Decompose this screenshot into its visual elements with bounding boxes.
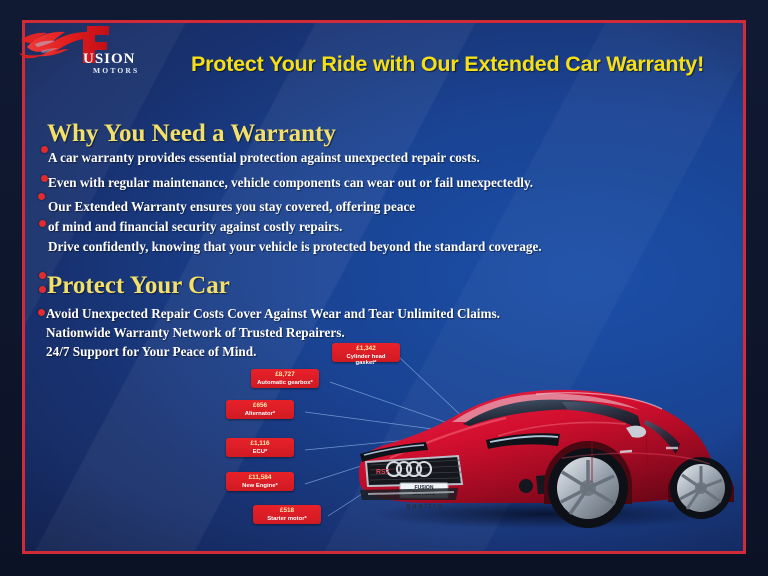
callout-price: £8,727: [255, 372, 315, 379]
body-line: Nationwide Warranty Network of Trusted R…: [46, 325, 345, 341]
bullet-dot: [38, 193, 45, 200]
callout-part: Cylinder head gasket*: [336, 354, 396, 366]
body-line: Drive confidently, knowing that your veh…: [48, 239, 542, 255]
callout-price: £1,342: [336, 346, 396, 353]
rs7-badge: RS7: [376, 469, 390, 476]
callout-part: New Engine*: [230, 483, 290, 489]
logo-subtext: MOTORS: [93, 66, 139, 75]
callout-price: £1,116: [230, 441, 290, 448]
body-line: Even with regular maintenance, vehicle c…: [48, 175, 533, 191]
body-line: Avoid Unexpected Repair Costs Cover Agai…: [46, 306, 500, 322]
body-line: of mind and financial security against c…: [48, 219, 342, 235]
callout-price: £11,584: [230, 475, 290, 482]
callout-starter-motor[interactable]: £518 Starter motor*: [253, 505, 321, 524]
callout-price: £518: [257, 508, 317, 515]
callout-part: Alternator*: [230, 411, 290, 417]
body-line: 24/7 Support for Your Peace of Mind.: [46, 344, 256, 360]
warranty-poster: USION MOTORS Protect Your Ride with Our …: [0, 0, 768, 576]
bullet-dot: [41, 175, 48, 182]
callout-new-engine[interactable]: £11,584 New Engine*: [226, 472, 294, 491]
callout-automatic-gearbox[interactable]: £8,727 Automatic gearbox*: [251, 369, 319, 388]
body-line: A car warranty provides essential protec…: [48, 150, 480, 166]
door-handle: [620, 451, 632, 452]
quattro-badge: quattro: [406, 503, 444, 510]
callout-alternator[interactable]: £656 Alternator*: [226, 400, 294, 419]
callout-cylinder-head-gasket[interactable]: £1,342 Cylinder head gasket*: [332, 343, 400, 362]
callout-part: ECU*: [230, 449, 290, 455]
body-line: Our Extended Warranty ensures you stay c…: [48, 199, 415, 215]
fusion-motors-logo: USION MOTORS: [15, 13, 145, 79]
section-heading-protect-your-car: Protect Your Car: [47, 272, 230, 300]
bullet-dot: [38, 309, 45, 316]
page-title: Protect Your Ride with Our Extended Car …: [155, 52, 740, 77]
bullet-dot: [39, 286, 46, 293]
bullet-dot: [39, 220, 46, 227]
bullet-dot: [39, 272, 46, 279]
section-heading-why-you-need-a-warranty: Why You Need a Warranty: [47, 120, 336, 148]
callout-part: Automatic gearbox*: [255, 380, 315, 386]
logo-wordmark: USION: [83, 51, 136, 67]
callout-price: £656: [230, 403, 290, 410]
callout-ecu[interactable]: £1,116 ECU*: [226, 438, 294, 457]
callout-part: Starter motor*: [257, 516, 317, 522]
